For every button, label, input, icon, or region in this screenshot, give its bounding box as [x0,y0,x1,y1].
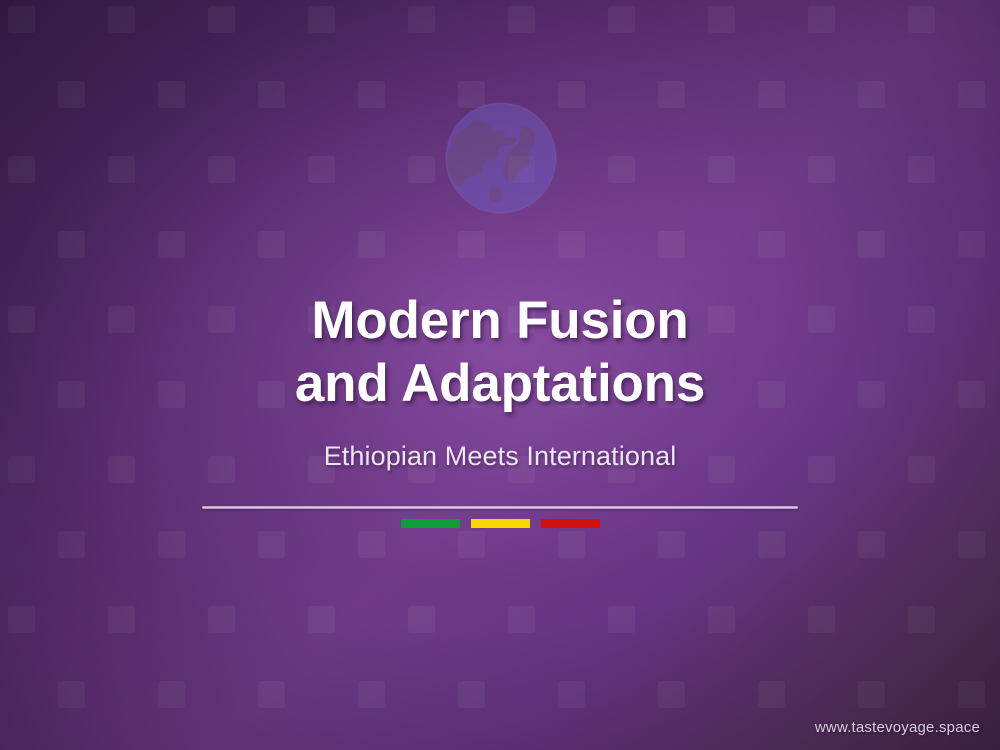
red-bar [541,519,600,528]
green-bar [401,519,460,528]
accent-bar-group [401,519,600,528]
slide-content: Modern Fusion and Adaptations Ethiopian … [0,290,1000,472]
title-divider [202,506,798,509]
globe-icon [445,102,557,214]
page-title: Modern Fusion and Adaptations [0,290,1000,415]
title-line-1: Modern Fusion [0,290,1000,353]
title-line-2: and Adaptations [0,353,1000,416]
yellow-bar [471,519,530,528]
footer-url: www.tastevoyage.space [815,719,980,736]
presentation-slide: Modern Fusion and Adaptations Ethiopian … [0,0,1000,750]
slide-subtitle: Ethiopian Meets International [0,441,1000,472]
